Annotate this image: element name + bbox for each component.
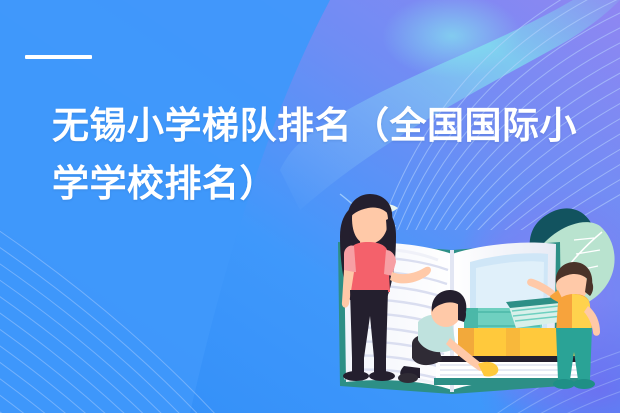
education-reading-illustration <box>300 180 620 413</box>
article-cover-banner: 无锡小学梯队排名（全国国际小学学校排名） <box>0 0 620 413</box>
